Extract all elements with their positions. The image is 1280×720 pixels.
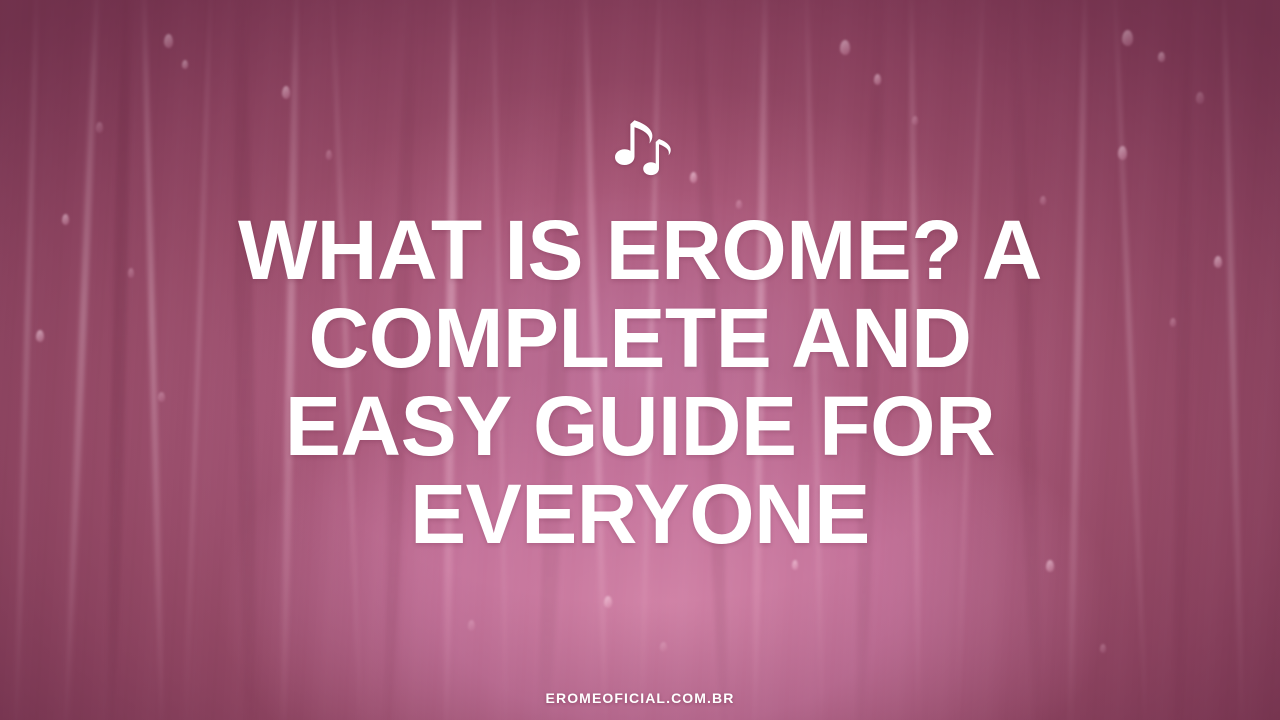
banner-canvas: What Is Erome? A Complete and Easy Guide… [0,0,1280,720]
music-note-icon [609,116,671,184]
footer-site-url: EROMEOFICIAL.COM.BR [0,690,1280,706]
banner-content: What Is Erome? A Complete and Easy Guide… [0,0,1280,720]
page-title: What Is Erome? A Complete and Easy Guide… [190,206,1090,558]
